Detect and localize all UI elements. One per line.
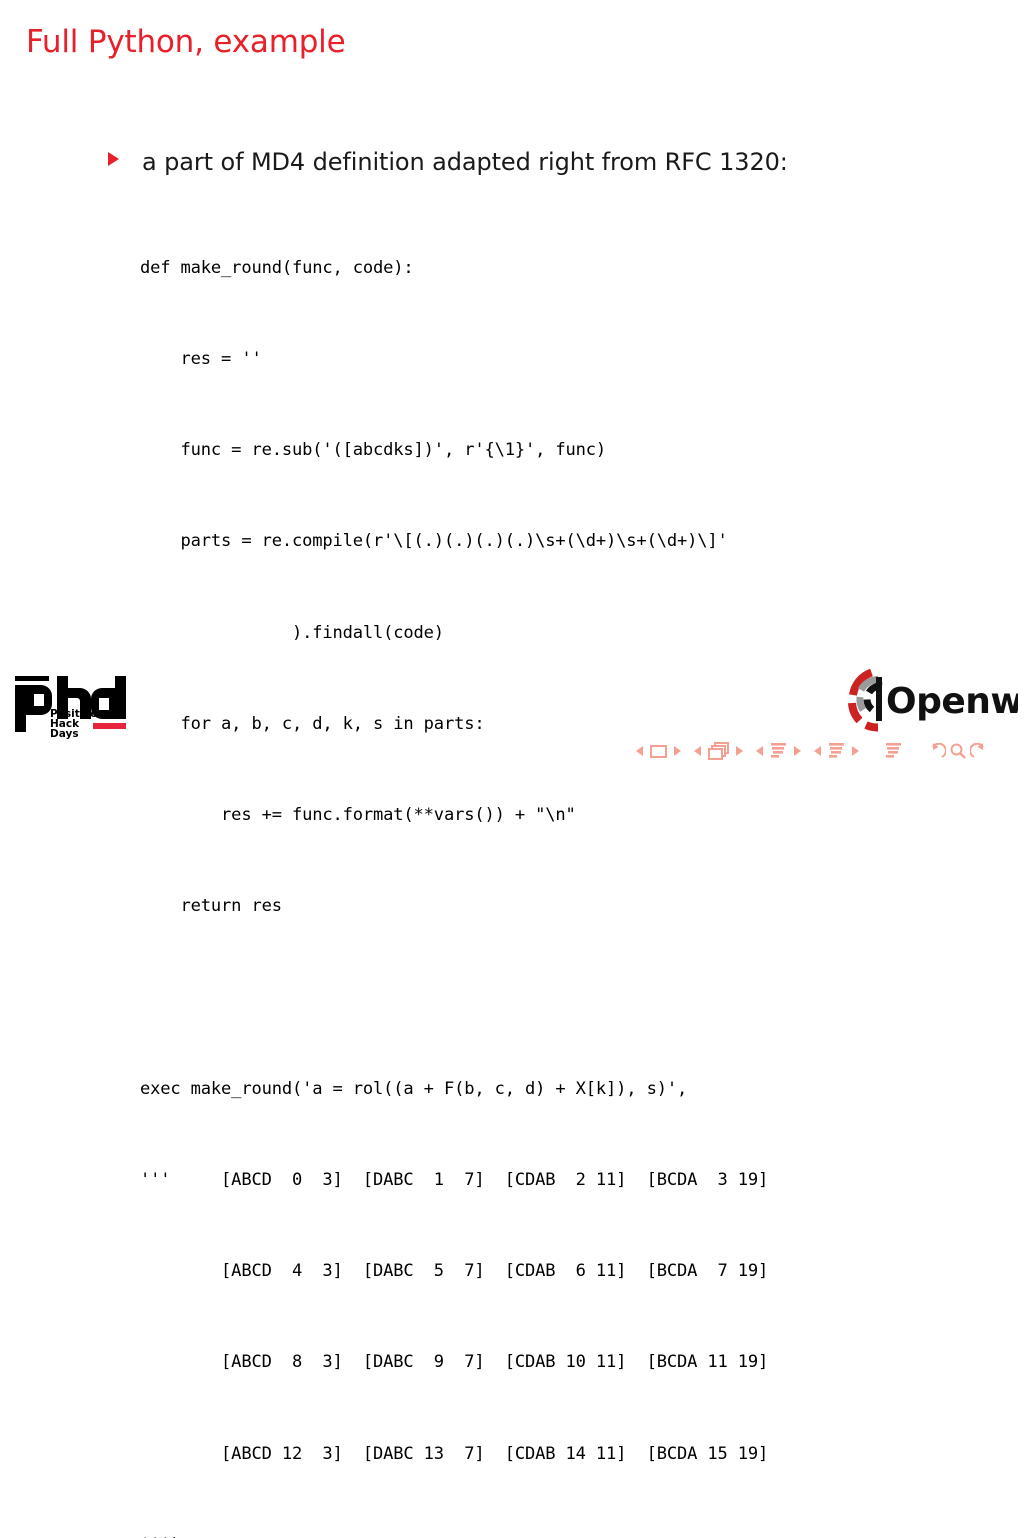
code-line: ).findall(code) — [140, 618, 768, 648]
code-line: res += func.format(**vars()) + "\n" — [140, 800, 768, 830]
undo-arrow-icon[interactable] — [928, 743, 946, 759]
code-line-blank — [140, 983, 768, 1013]
bullet-item: a part of MD4 definition adapted right f… — [108, 148, 788, 176]
code-line-md4-row: [ABCD 12 3] [DABC 13 7] [CDAB 14 11] [BC… — [140, 1439, 768, 1469]
next-subsection-icon[interactable] — [794, 746, 801, 756]
code-line-md4-row: ''' [ABCD 0 3] [DABC 1 7] [CDAB 2 11] [B… — [140, 1165, 768, 1195]
code-line-md4-row: [ABCD 4 3] [DABC 5 7] [CDAB 6 11] [BCDA … — [140, 1256, 768, 1286]
svg-text:Days: Days — [50, 728, 79, 740]
next-slide-icon[interactable] — [674, 746, 681, 756]
code-line: exec make_round('a = rol((a + F(b, c, d)… — [140, 1074, 768, 1104]
next-frame-icon[interactable] — [736, 746, 743, 756]
triangle-right-bullet-icon — [108, 152, 119, 166]
beamer-navigation-bar[interactable] — [636, 739, 988, 763]
next-section-icon[interactable] — [852, 746, 859, 756]
code-line: func = re.sub('([abcdks])', r'{\1}', fun… — [140, 435, 768, 465]
phdays-logo: Positive Hack Days — [10, 672, 132, 740]
svg-text:Openwall: Openwall — [886, 681, 1018, 722]
code-line: for a, b, c, d, k, s in parts: — [140, 709, 768, 739]
frames-stack-icon[interactable] — [708, 742, 729, 760]
code-line: parts = re.compile(r'\[(.)(.)(.)(.)\s+(\… — [140, 526, 768, 556]
bullet-item-label: a part of MD4 definition adapted right f… — [142, 148, 788, 176]
document-lines-block-icon[interactable] — [885, 743, 902, 759]
previous-section-icon[interactable] — [814, 746, 821, 756]
search-icon[interactable] — [950, 743, 966, 759]
lines-block-icon[interactable] — [828, 743, 845, 759]
previous-subsection-icon[interactable] — [756, 746, 763, 756]
previous-slide-icon[interactable] — [636, 746, 643, 756]
previous-frame-icon[interactable] — [694, 746, 701, 756]
code-line: def make_round(func, code): — [140, 253, 768, 283]
code-line: return res — [140, 891, 768, 921]
nav-group-subsection[interactable] — [756, 743, 801, 759]
slide-rect-icon[interactable] — [650, 745, 667, 758]
lines-block-icon[interactable] — [770, 743, 787, 759]
nav-group-frame[interactable] — [694, 742, 743, 760]
nav-group-section[interactable] — [814, 743, 859, 759]
page-title: Full Python, example — [26, 24, 345, 60]
openwall-logo: Openwall — [846, 663, 1018, 735]
code-line: res = '' — [140, 344, 768, 374]
code-line-md4-row: [ABCD 8 3] [DABC 9 7] [CDAB 10 11] [BCDA… — [140, 1347, 768, 1377]
code-line: ''') — [140, 1530, 768, 1538]
nav-group-slide[interactable] — [636, 745, 681, 758]
code-block: def make_round(func, code): res = '' fun… — [140, 192, 768, 1538]
redo-arrow-icon[interactable] — [970, 743, 988, 759]
